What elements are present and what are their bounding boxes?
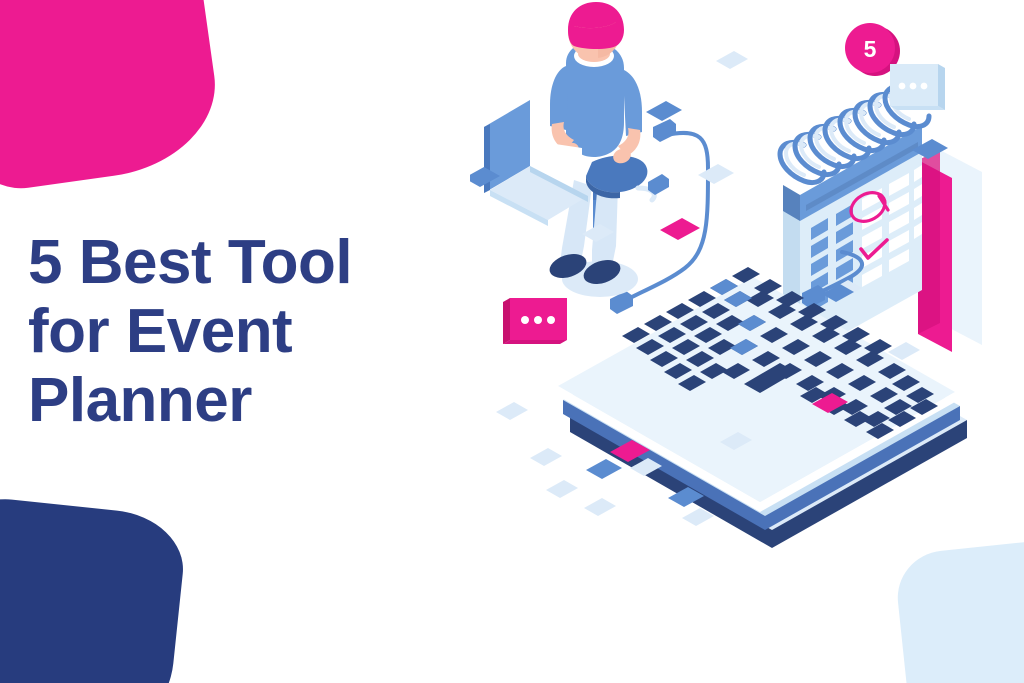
page-title: 5 Best Tool for Event Planner: [28, 228, 498, 436]
calendar-back-pages: [918, 150, 982, 352]
chat-bubble-dots: [899, 83, 928, 90]
event-planning-illustration: 5: [470, 0, 1024, 683]
chat-bubble-light: [890, 64, 945, 110]
navy-blob: [0, 493, 189, 683]
notification-count: 5: [864, 36, 877, 62]
chat-bubble-pink: [503, 298, 567, 344]
chat-bubble-pink-dots: [521, 316, 555, 324]
pink-blob: [0, 0, 226, 198]
poster-canvas: 5 Best Tool for Event Planner: [0, 0, 1024, 683]
